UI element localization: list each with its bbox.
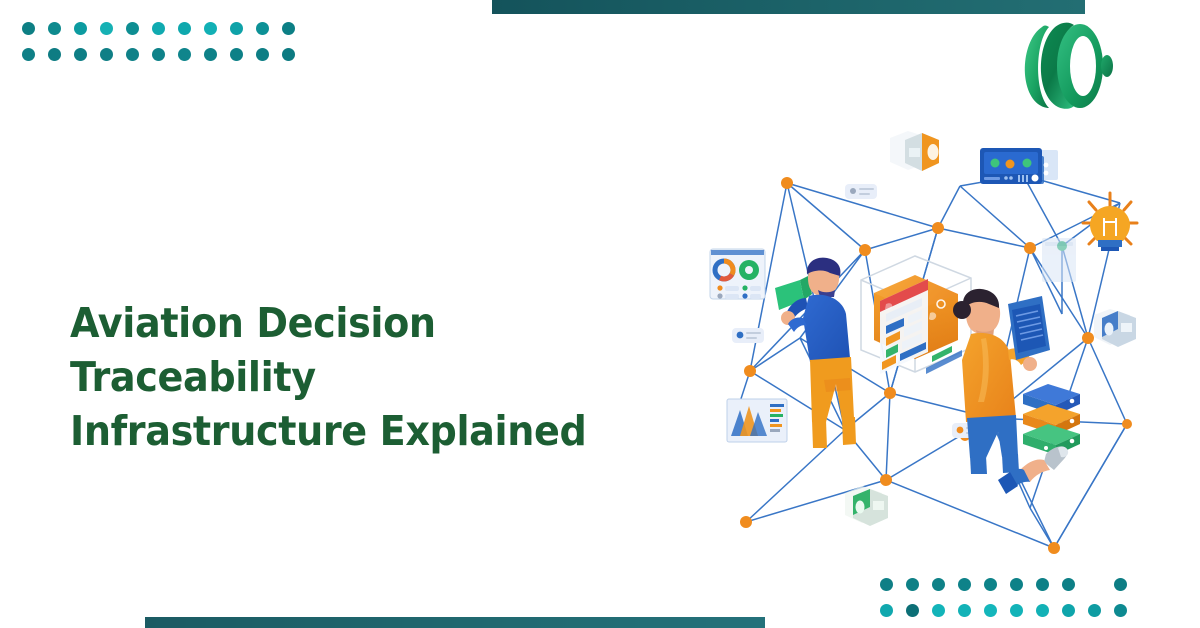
top-left-dot-grid [16,16,302,68]
central-data-cube [861,256,971,374]
decor-dot [880,578,893,591]
network-infrastructure-illustration [690,118,1160,563]
decor-dot [126,22,139,35]
decor-dot [880,604,893,617]
decor-dot [282,48,295,61]
isometric-box-bottom [845,486,888,526]
decor-dot [74,22,87,35]
decor-dot [230,22,243,35]
decor-dot [74,48,87,61]
decor-dot [178,48,191,61]
bottom-accent-bar [145,617,765,628]
decor-dot [958,604,971,617]
decor-dot [22,48,35,61]
bottom-right-dot-grid [874,572,1134,624]
decor-dot [48,48,61,61]
isometric-box-top [890,131,939,171]
decor-dot [126,48,139,61]
logo-accent-dot [1101,55,1113,77]
area-chart-card [727,399,787,442]
decor-dot [906,578,919,591]
decor-dot [152,22,165,35]
top-accent-bar [492,0,1085,14]
page-title: Aviation Decision Traceability Infrastru… [70,296,647,458]
decor-dot [1010,604,1023,617]
decor-dot [204,22,217,35]
decor-dot [1036,578,1049,591]
decor-dot [204,48,217,61]
decor-dot [1036,604,1049,617]
decor-dot [178,22,191,35]
decor-dot [1010,578,1023,591]
lightbulb-icon [1083,193,1137,251]
dashboard-monitor [980,148,1058,184]
decor-dot [100,48,113,61]
decor-dot [48,22,61,35]
banner-canvas: Aviation Decision Traceability Infrastru… [0,0,1200,628]
decor-dot [1114,604,1127,617]
pill-card-left [732,328,764,343]
decor-dot [22,22,35,35]
decor-dot [984,604,997,617]
brand-logo[interactable] [1008,18,1113,113]
donut-chart-card [710,249,765,299]
decor-dot [1088,578,1101,591]
decor-dot [906,604,919,617]
logo-ring-hole [1070,36,1096,96]
decor-dot [1088,604,1101,617]
decor-dot [984,578,997,591]
ghost-panel [1042,238,1076,282]
decor-dot [1062,604,1075,617]
decor-dot [152,48,165,61]
decor-dot [932,604,945,617]
decor-dot [1062,578,1075,591]
decor-dot [256,48,269,61]
decor-dot [932,578,945,591]
decor-dot [958,578,971,591]
decor-dot [230,48,243,61]
server-stack [1023,384,1080,455]
decor-dot [100,22,113,35]
decor-dot [1114,578,1127,591]
decor-dot [282,22,295,35]
decor-dot [256,22,269,35]
isometric-box-right [1094,309,1136,347]
pill-card-top [845,184,877,199]
